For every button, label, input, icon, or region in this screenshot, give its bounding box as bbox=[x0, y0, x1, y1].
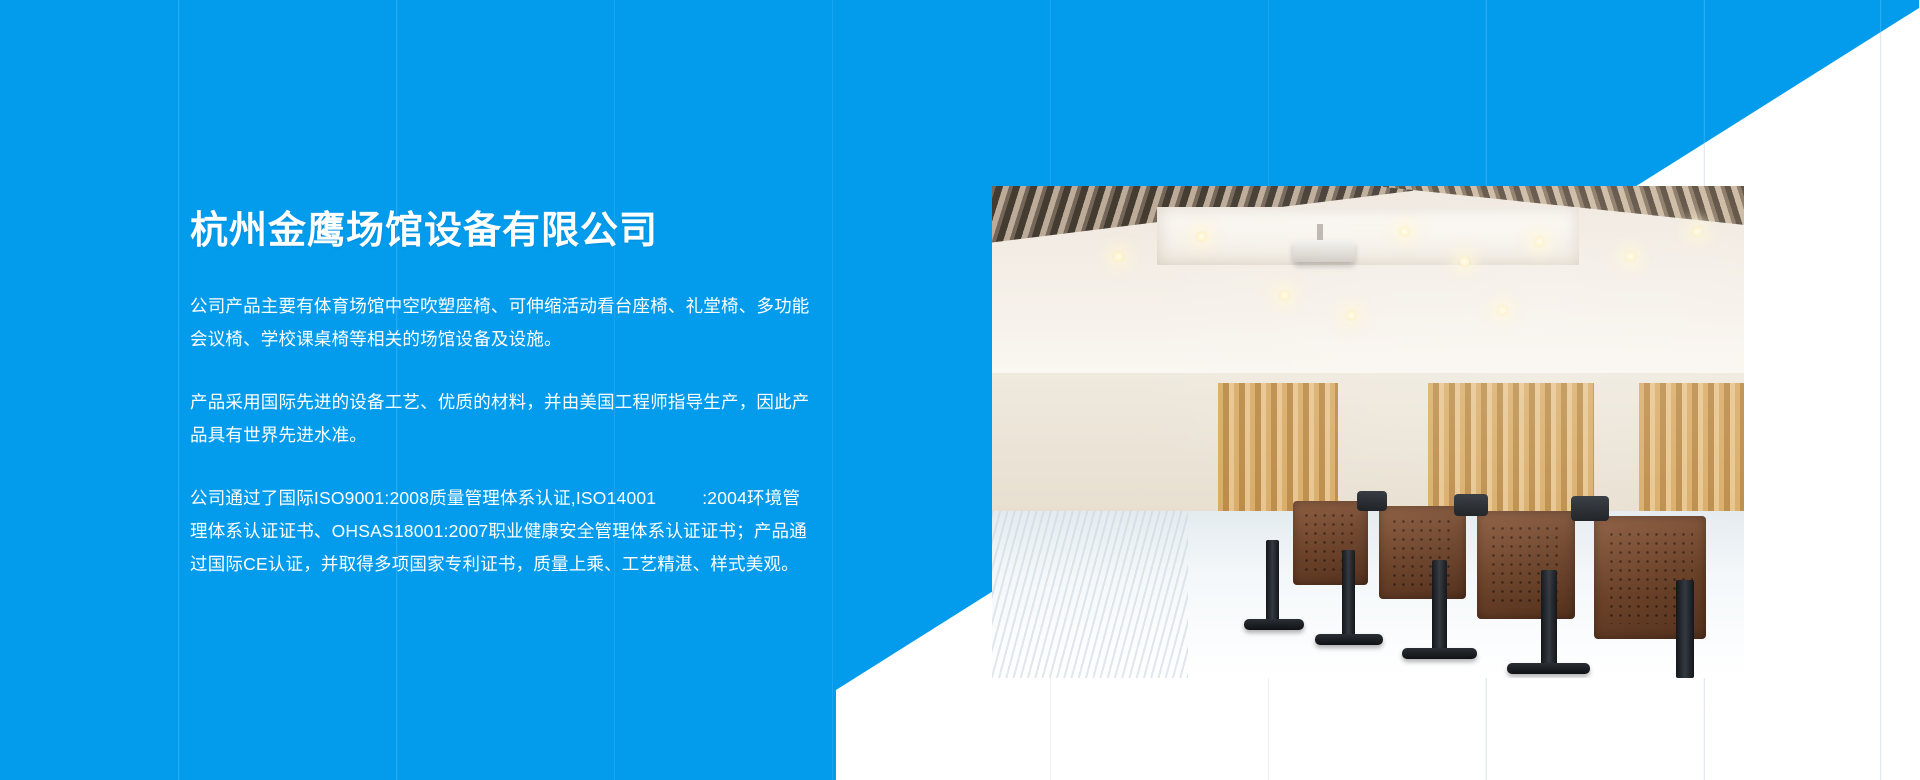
seat-leg bbox=[1676, 580, 1694, 678]
folding-table-panel bbox=[1293, 501, 1368, 585]
window-curtain bbox=[1639, 383, 1744, 511]
company-paragraph-certifications: 公司通过了国际ISO9001:2008质量管理体系认证,ISO14001:200… bbox=[190, 482, 815, 581]
ceiling-light bbox=[1278, 289, 1291, 302]
about-company-banner: 杭州金鹰场馆设备有限公司 公司产品主要有体育场馆中空吹塑座椅、可伸缩活动看台座椅… bbox=[0, 0, 1920, 780]
page-title: 杭州金鹰场馆设备有限公司 bbox=[190, 210, 815, 254]
ceiling bbox=[992, 186, 1744, 393]
seat-foot bbox=[1244, 619, 1304, 630]
certification-line-1: 公司通过了国际ISO9001:2008质量管理体系认证,ISO14001 bbox=[190, 488, 656, 508]
seat-foot bbox=[1507, 663, 1590, 674]
seat-foot bbox=[1402, 648, 1477, 659]
auditorium-photo bbox=[992, 186, 1744, 678]
company-paragraph-products: 公司产品主要有体育场馆中空吹塑座椅、可伸缩活动看台座椅、礼堂椅、多功能会议椅、学… bbox=[190, 290, 815, 356]
seat-leg bbox=[1432, 560, 1447, 653]
armrest bbox=[1454, 494, 1488, 516]
armrest bbox=[1571, 496, 1609, 521]
seat-leg bbox=[1342, 550, 1356, 639]
projector bbox=[1293, 240, 1355, 262]
seat-foot bbox=[1315, 634, 1383, 645]
ceiling-panel bbox=[1157, 207, 1578, 265]
auditorium-photo-canvas bbox=[992, 186, 1744, 678]
company-paragraph-quality: 产品采用国际先进的设备工艺、优质的材料，并由美国工程师指导生产，因此产品具有世界… bbox=[190, 386, 815, 452]
folding-table-panel bbox=[1379, 506, 1465, 599]
window-curtain bbox=[1428, 383, 1593, 511]
ceiling-light bbox=[1624, 250, 1637, 263]
folding-table-panel bbox=[1477, 511, 1575, 619]
company-copy-block: 杭州金鹰场馆设备有限公司 公司产品主要有体育场馆中空吹塑座椅、可伸缩活动看台座椅… bbox=[190, 210, 815, 581]
seat-leg bbox=[1266, 540, 1278, 624]
ceiling-light bbox=[1496, 304, 1509, 317]
seat-leg bbox=[1541, 570, 1558, 668]
armrest bbox=[1357, 491, 1387, 511]
window-curtain bbox=[1218, 383, 1338, 511]
